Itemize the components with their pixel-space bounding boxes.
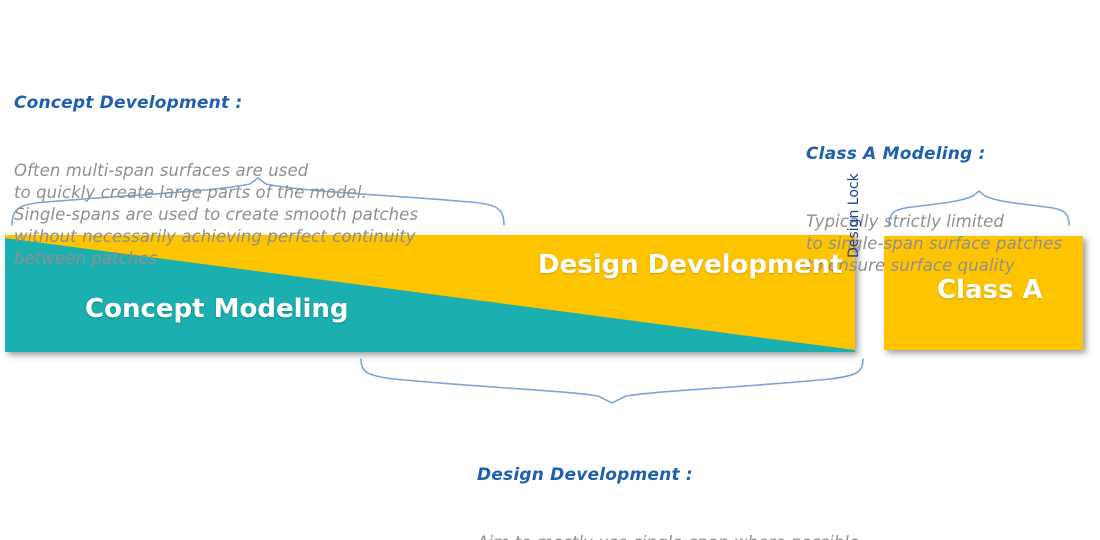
brace-design-development [361,359,863,403]
annotation-concept-development: Concept Development : Often multi-span s… [14,48,418,313]
bar-label-concept-modeling[interactable]: Concept Modeling [85,294,349,324]
annotation-class-a-title: Class A Modeling : [806,143,1062,166]
bar-label-design-development[interactable]: Design Development [538,250,843,280]
annotation-design-development: Design Development : Aim to mostly use s… [477,420,865,540]
bar-label-design-lock[interactable]: Design Lock [846,173,862,258]
annotation-design-body: Aim to mostly use single-span where poss… [477,532,865,540]
diagram-canvas: Concept Development : Often multi-span s… [0,0,1100,540]
annotation-design-title: Design Development : [477,464,865,487]
bar-label-class-a[interactable]: Class A [937,275,1043,305]
annotation-concept-body: Often multi-span surfaces are used to qu… [14,160,418,270]
annotation-class-a-body: Typically strictly limited to single-spa… [806,211,1062,277]
annotation-concept-title: Concept Development : [14,92,418,115]
